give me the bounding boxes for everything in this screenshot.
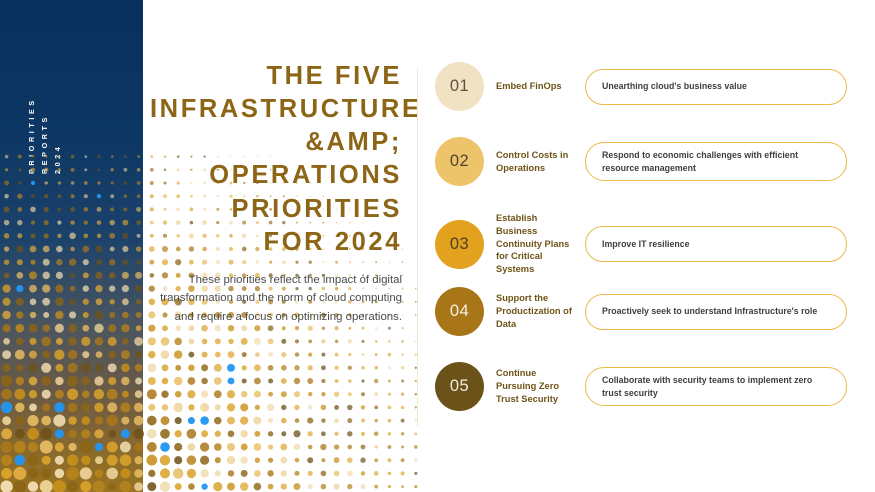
page-title: THE FIVE INFRASTRUCTURE &amp; OPERATIONS… bbox=[150, 60, 402, 259]
title-line-2: INFRASTRUCTURE bbox=[150, 95, 422, 123]
priority-number-badge: 05 bbox=[435, 362, 484, 411]
priority-detail-text: Collaborate with security teams to imple… bbox=[602, 374, 830, 400]
title-block: THE FIVE INFRASTRUCTURE &amp; OPERATIONS… bbox=[150, 60, 402, 326]
priority-row: 05 Continue Pursuing Zero Trust Security… bbox=[435, 362, 855, 411]
title-line-1: THE FIVE bbox=[266, 62, 402, 90]
priority-detail-text: Improve IT resilience bbox=[602, 238, 690, 251]
priority-detail-pill: Collaborate with security teams to imple… bbox=[585, 367, 847, 407]
priority-row: 04 Support the Productization of Data Pr… bbox=[435, 287, 855, 336]
priority-row: 02 Control Costs in Operations Respond t… bbox=[435, 137, 855, 186]
priority-label: Support the Productization of Data bbox=[496, 292, 578, 330]
vertical-label-year: 2024 bbox=[54, 54, 67, 174]
priority-detail-text: Unearthing cloud's business value bbox=[602, 80, 747, 93]
vertical-report-label: PRIORITIES REPORTS 2024 bbox=[28, 54, 67, 174]
priority-label: Establish Business Continuity Plans for … bbox=[496, 212, 578, 276]
infographic-slide: PRIORITIES REPORTS 2024 THE FIVE INFRAST… bbox=[0, 0, 875, 492]
priority-number-badge: 01 bbox=[435, 62, 484, 111]
title-line-5: FOR 2024 bbox=[264, 228, 402, 256]
priority-detail-pill: Respond to economic challenges with effi… bbox=[585, 142, 847, 182]
priority-detail-pill: Proactively seek to understand Infrastru… bbox=[585, 294, 847, 330]
priority-row: 01 Embed FinOps Unearthing cloud's busin… bbox=[435, 62, 855, 111]
priority-number-badge: 03 bbox=[435, 220, 484, 269]
priority-row: 03 Establish Business Continuity Plans f… bbox=[435, 212, 855, 276]
priority-detail-pill: Improve IT resilience bbox=[585, 226, 847, 262]
priority-detail-pill: Unearthing cloud's business value bbox=[585, 69, 847, 105]
priority-detail-text: Respond to economic challenges with effi… bbox=[602, 149, 830, 175]
left-navy-panel: PRIORITIES REPORTS 2024 bbox=[0, 0, 143, 492]
title-line-3: &amp; OPERATIONS bbox=[209, 128, 402, 189]
page-subtitle: These priorities reflect the impact of d… bbox=[150, 271, 402, 326]
priority-label: Control Costs in Operations bbox=[496, 149, 578, 175]
priority-label: Continue Pursuing Zero Trust Security bbox=[496, 367, 578, 405]
title-line-4: PRIORITIES bbox=[231, 195, 402, 223]
vertical-divider bbox=[417, 68, 418, 426]
priority-detail-text: Proactively seek to understand Infrastru… bbox=[602, 305, 817, 318]
priority-number-badge: 04 bbox=[435, 287, 484, 336]
priority-label: Embed FinOps bbox=[496, 80, 578, 93]
priority-number-badge: 02 bbox=[435, 137, 484, 186]
